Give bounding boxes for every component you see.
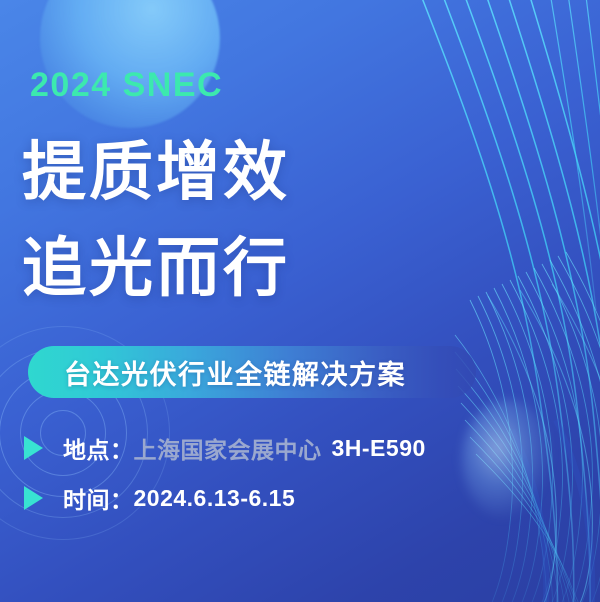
- location-row: 地点： 上海国家会展中心 3H-E590: [24, 431, 426, 465]
- promo-poster: 2024 SNEC 提质增效 追光而行 台达光伏行业全链解决方案 地点： 上海国…: [0, 0, 600, 602]
- solution-pill-text: 台达光伏行业全链解决方案: [64, 353, 406, 392]
- location-booth: 3H-E590: [332, 435, 426, 462]
- time-row: 时间： 2024.6.13-6.15: [24, 481, 295, 515]
- play-triangle-icon: [24, 486, 43, 510]
- headline-line-2: 追光而行: [22, 236, 290, 300]
- location-venue: 上海国家会展中心: [134, 431, 322, 465]
- time-value: 2024.6.13-6.15: [134, 485, 296, 512]
- solution-pill: 台达光伏行业全链解决方案: [28, 346, 476, 398]
- event-eyebrow: 2024 SNEC: [30, 66, 223, 105]
- headline-line-1: 提质增效: [22, 140, 290, 204]
- poster-content: 2024 SNEC 提质增效 追光而行 台达光伏行业全链解决方案 地点： 上海国…: [0, 0, 600, 602]
- play-triangle-icon: [24, 436, 43, 460]
- time-label: 时间：: [63, 481, 134, 515]
- location-label: 地点：: [63, 431, 134, 465]
